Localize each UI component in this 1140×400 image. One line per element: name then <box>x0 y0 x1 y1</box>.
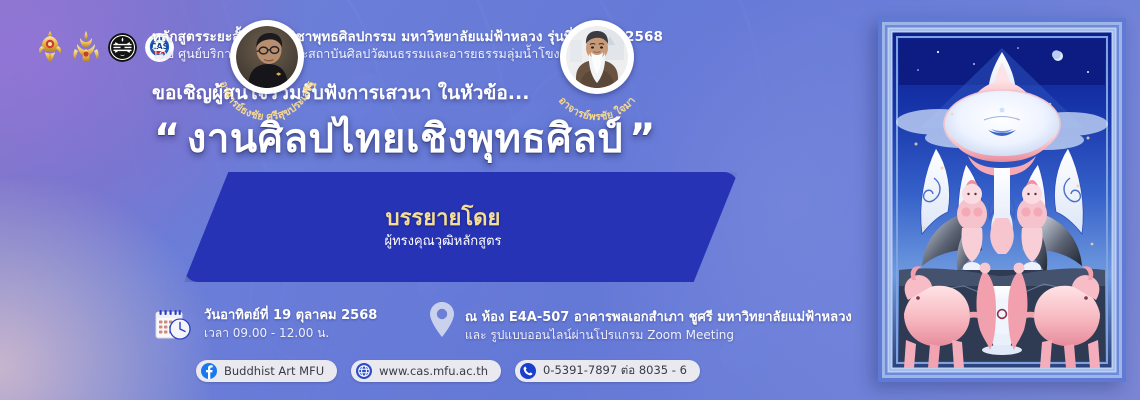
contact-website-label: www.cas.mfu.ac.th <box>379 364 488 378</box>
byline-sub: ผู้ทรงคุณวุฒิหลักสูตร <box>368 234 518 249</box>
date-line: วันอาทิตย์ที่ 19 ตุลาคม 2568 <box>204 307 377 325</box>
place-text: ณ ห้อง E4A-507 อาคารพลเอกสำเภา ชูศรี มหา… <box>465 303 852 344</box>
thai-buddhist-painting <box>878 18 1126 382</box>
facebook-icon <box>201 363 217 379</box>
contact-bar: Buddhist Art MFU www.cas.mfu.ac.th 0-539… <box>196 360 700 382</box>
calendar-clock-icon <box>155 308 195 342</box>
contact-website[interactable]: www.cas.mfu.ac.th <box>351 360 501 382</box>
venue-line: ณ ห้อง E4A-507 อาคารพลเอกสำเภา ชูศรี มหา… <box>465 309 852 327</box>
place-info: ณ ห้อง E4A-507 อาคารพลเอกสำเภา ชูศรี มหา… <box>428 303 852 344</box>
globe-icon <box>356 363 372 379</box>
byline: บรรยายโดย ผู้ทรงคุณวุฒิหลักสูตร <box>368 206 518 249</box>
avatar-left <box>230 20 304 94</box>
seminar-topic: งานศิลปไทยเชิงพุทธศิลป์ <box>187 116 623 162</box>
avatar-photo-right <box>566 26 628 88</box>
avatar-photo-left <box>236 26 298 88</box>
date-text: วันอาทิตย์ที่ 19 ตุลาคม 2568 เวลา 09.00 … <box>204 307 377 342</box>
byline-main: บรรยายโดย <box>368 206 518 232</box>
invite-line: ขอเชิญผู้สนใจร่วมรับฟังการเสวนา ในหัวข้อ… <box>152 78 529 108</box>
time-line: เวลา 09.00 - 12.00 น. <box>204 325 377 342</box>
avatar-right <box>560 20 634 94</box>
page-title: “งานศิลปไทยเชิงพุทธศิลป์” <box>148 106 662 170</box>
rose-glow <box>0 180 210 400</box>
location-pin-icon <box>428 301 456 341</box>
contact-phone[interactable]: 0-5391-7897 ต่อ 8035 - 6 <box>515 360 700 382</box>
mfu-seal-black-icon <box>108 33 137 62</box>
quote-close: ” <box>623 116 662 162</box>
seminar-banner: CAS หลักสูตรระยะสั้น สาขาวิชาพุทธศิลปกรร… <box>0 0 1140 400</box>
quote-open: “ <box>148 116 187 162</box>
online-line: และ รูปแบบออนไลน์ผ่านโปรแกรม Zoom Meetin… <box>465 327 852 344</box>
contact-facebook[interactable]: Buddhist Art MFU <box>196 360 337 382</box>
date-info: วันอาทิตย์ที่ 19 ตุลาคม 2568 เวลา 09.00 … <box>155 307 377 342</box>
royal-emblem-gold-2-icon <box>72 30 100 64</box>
contact-facebook-label: Buddhist Art MFU <box>224 364 324 378</box>
artwork-panel <box>878 18 1126 382</box>
phone-icon <box>520 363 536 379</box>
royal-emblem-gold-1-icon <box>36 30 64 64</box>
contact-phone-label: 0-5391-7897 ต่อ 8035 - 6 <box>543 362 687 380</box>
